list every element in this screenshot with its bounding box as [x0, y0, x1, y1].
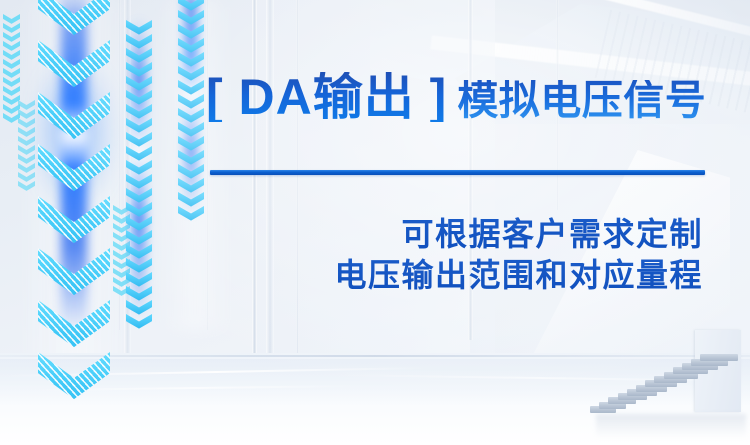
title-divider-line [210, 170, 705, 175]
chevron-down-icon [3, 77, 20, 88]
page-title-secondary: 模拟电压信号 [457, 80, 706, 121]
back-wall-left [255, 0, 495, 360]
page-title-main: [ DA输出 ] [206, 72, 447, 122]
pillar [266, 0, 274, 386]
chevron-down-icon-column-medium [126, 20, 152, 320]
staircase-step [700, 354, 738, 361]
chevron-down-icon [3, 68, 20, 79]
chevron-down-icon [3, 59, 20, 70]
staircase-reflection [596, 414, 746, 438]
chevron-down-icon [3, 32, 20, 43]
subtitle-line-2: 电压输出范围和对应量程 [334, 255, 703, 296]
banner-subtitle: 可根据客户需求定制 电压输出范围和对应量程 [334, 214, 703, 295]
chevron-down-icon-column-main [38, 0, 110, 348]
chevron-down-icon [3, 50, 20, 61]
chevron-down-icon [3, 41, 20, 52]
glass-mullion [296, 0, 299, 368]
chevron-down-icon-column-medium [178, 0, 204, 216]
banner-title: [ DA输出 ] 模拟电压信号 [206, 72, 706, 122]
glass-mullion [252, 0, 257, 362]
promo-banner: [ DA输出 ] 模拟电压信号 可根据客户需求定制 电压输出范围和对应量程 [0, 0, 750, 445]
staircase-shape [590, 348, 750, 418]
chevron-down-icon [3, 23, 20, 34]
chevron-down-icon [3, 86, 20, 97]
subtitle-line-1: 可根据客户需求定制 [334, 214, 703, 255]
chevron-down-icon [3, 14, 20, 25]
